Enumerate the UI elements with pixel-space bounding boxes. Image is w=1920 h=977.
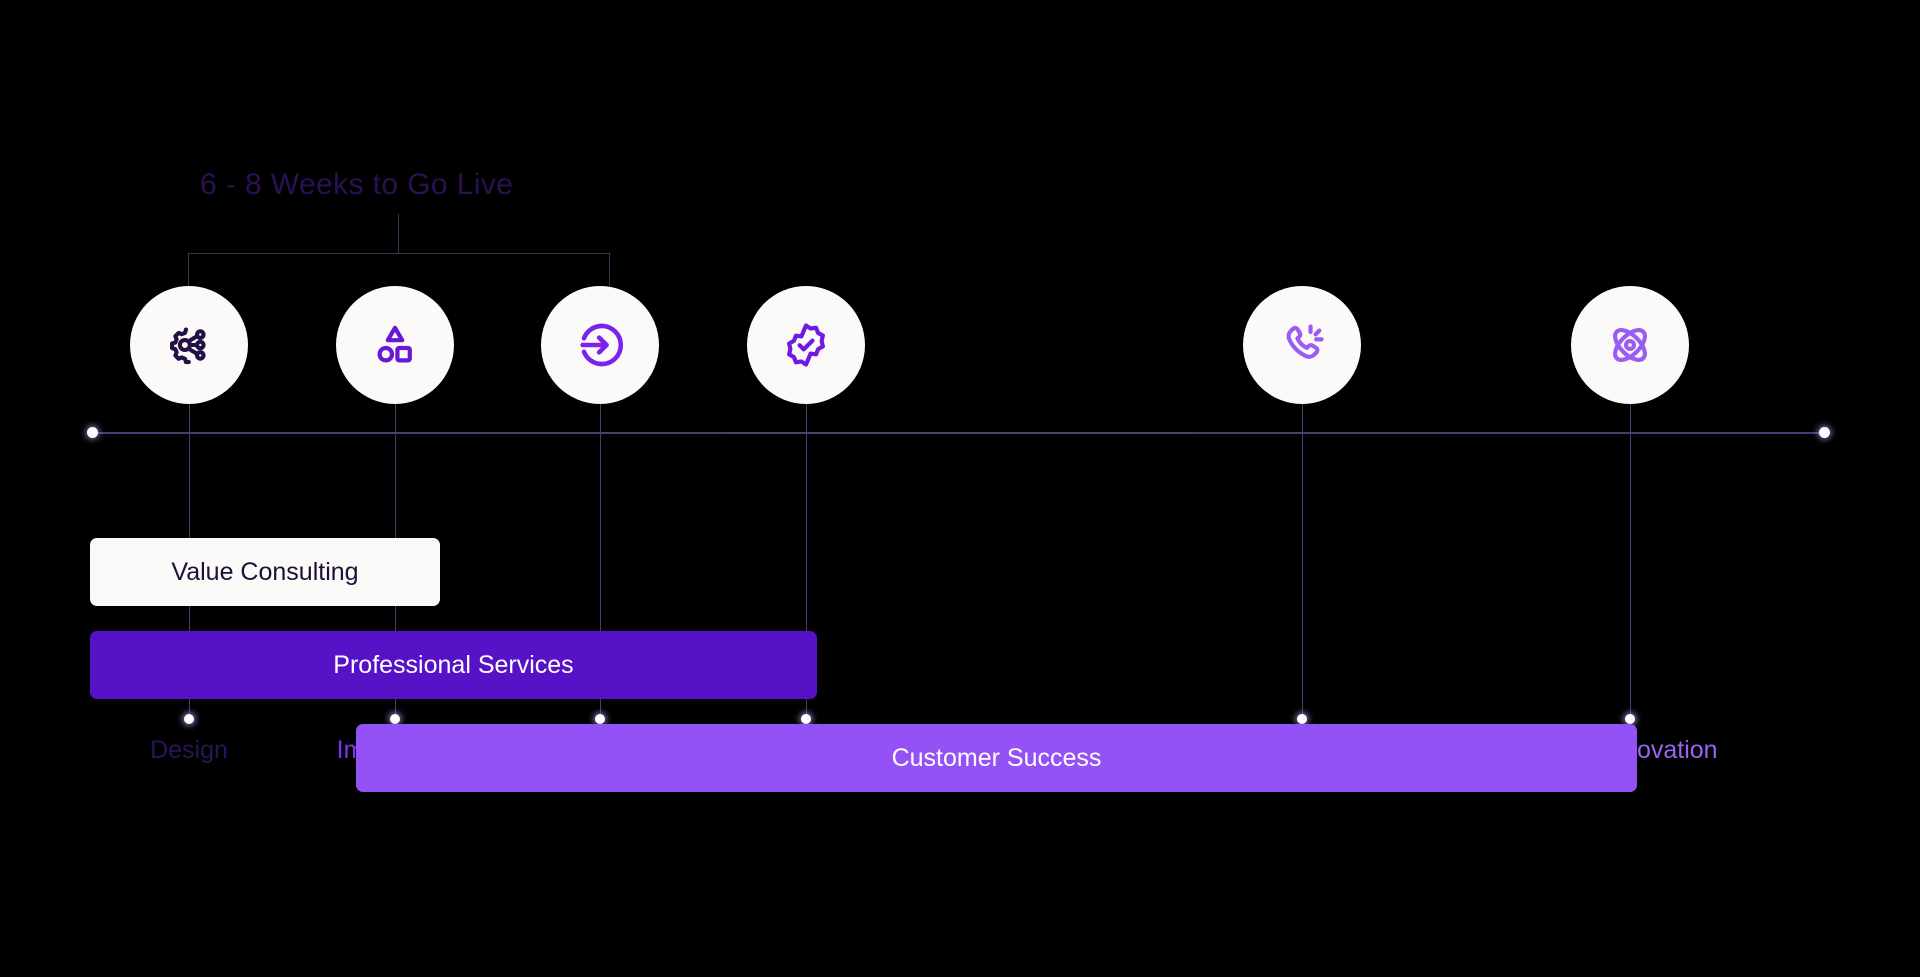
swimlane-bar-professional-services[interactable]: Professional Services [90, 631, 817, 699]
shapes-icon [371, 321, 419, 369]
timeline-rail [92, 432, 1825, 434]
gear-circuit-icon [163, 319, 215, 371]
atom-icon [1605, 320, 1655, 370]
node-circle [1243, 286, 1361, 404]
node-circle [747, 286, 865, 404]
node-circle [336, 286, 454, 404]
swimlane-bar-customer-success[interactable]: Customer Success [356, 724, 1637, 792]
node-dot [1297, 714, 1307, 724]
go-live-callout-label: 6 - 8 Weeks to Go Live [200, 168, 513, 202]
node-circle [130, 286, 248, 404]
node-dot [595, 714, 605, 724]
node-dot [1625, 714, 1635, 724]
timeline-end-dot [1819, 427, 1830, 438]
node-circle [541, 286, 659, 404]
node-stem [1630, 404, 1631, 719]
timeline-start-dot [87, 427, 98, 438]
callout-bracket [188, 253, 610, 287]
node-circle [1571, 286, 1689, 404]
phone-ring-icon [1277, 320, 1327, 370]
gear-check-icon [781, 320, 831, 370]
callout-stem [398, 214, 399, 254]
node-dot [184, 714, 194, 724]
login-arrow-circle-icon [574, 319, 626, 371]
node-dot [801, 714, 811, 724]
node-stem [1302, 404, 1303, 719]
node-dot [390, 714, 400, 724]
infographic-canvas: 6 - 8 Weeks to Go Live Design [0, 0, 1920, 977]
swimlane-bar-value-consulting[interactable]: Value Consulting [90, 538, 440, 606]
